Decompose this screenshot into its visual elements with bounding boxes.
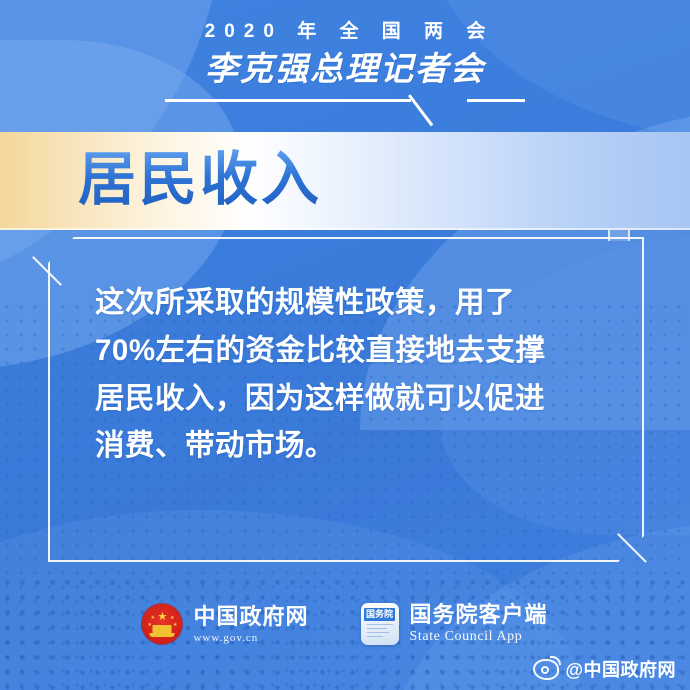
band-underline [0, 228, 690, 230]
poster-footer: ★ ★ ★ ★ ★ 中国政府网 www.gov.cn 国务院 [0, 580, 690, 690]
quote-text: 这次所采取的规模性政策，用了 70%左右的资金比较直接地去支撑 居民收入，因为这… [95, 279, 610, 470]
app-icon-line [367, 628, 387, 630]
emblem-star-small: ★ [147, 623, 151, 628]
state-council-app-name-en: State Council App [410, 629, 548, 645]
rule-short-segment [467, 99, 525, 102]
rule-long-segment [165, 99, 411, 102]
header-title: 李克强总理记者会 [0, 52, 690, 85]
state-council-app-logo-group[interactable]: 国务院 国务院客户端 State Council App [361, 602, 548, 645]
state-council-app-logo-text: 国务院客户端 State Council App [410, 602, 548, 645]
quote-frame: 这次所采取的规模性政策，用了 70%左右的资金比较直接地去支撑 居民收入，因为这… [48, 237, 644, 562]
app-icon-line [367, 632, 390, 634]
page-title: 居民收入 [78, 148, 322, 212]
state-council-app-name: 国务院客户端 [410, 602, 548, 627]
quote-line: 居民收入，因为这样做就可以促进 [95, 375, 610, 423]
app-icon-line [367, 636, 383, 638]
emblem-star-large: ★ [158, 612, 168, 623]
footer-logo-row: ★ ★ ★ ★ ★ 中国政府网 www.gov.cn 国务院 [0, 602, 690, 645]
national-emblem-icon: ★ ★ ★ ★ ★ [142, 604, 182, 644]
quote-line: 70%左右的资金比较直接地去支撑 [95, 327, 610, 375]
gov-cn-logo-text: 中国政府网 www.gov.cn [193, 604, 308, 644]
rule-diagonal-segment [408, 94, 433, 126]
gov-cn-url: www.gov.cn [193, 632, 308, 644]
quote-line: 这次所采取的规模性政策，用了 [95, 279, 610, 327]
header-eyebrow: 2020 年 全 国 两 会 [0, 22, 690, 41]
emblem-star-small: ★ [173, 623, 177, 628]
gov-cn-name: 中国政府网 [193, 604, 308, 629]
weibo-handle: @中国政府网 [565, 656, 676, 682]
poster-header: 2020 年 全 国 两 会 李克强总理记者会 [0, 0, 690, 128]
app-icon-badge-label: 国务院 [364, 608, 395, 621]
app-icon-texture-lines [367, 624, 393, 640]
quote-line: 消费、带动市场。 [95, 422, 610, 470]
emblem-star-small: ★ [170, 616, 174, 621]
state-council-app-icon: 国务院 [361, 603, 399, 645]
gov-cn-logo-group[interactable]: ★ ★ ★ ★ ★ 中国政府网 www.gov.cn [142, 604, 308, 644]
weibo-watermark[interactable]: @中国政府网 [533, 656, 676, 682]
emblem-tiananmen-gate [153, 625, 172, 633]
section-title-band: 居民收入 [0, 132, 690, 230]
emblem-star-small: ★ [150, 616, 154, 621]
app-icon-line [367, 624, 393, 626]
header-decorative-rule [165, 94, 525, 124]
weibo-icon [533, 659, 559, 680]
poster-canvas: 2020 年 全 国 两 会 李克强总理记者会 居民收入 这次所采取的规模性政策… [0, 0, 690, 690]
